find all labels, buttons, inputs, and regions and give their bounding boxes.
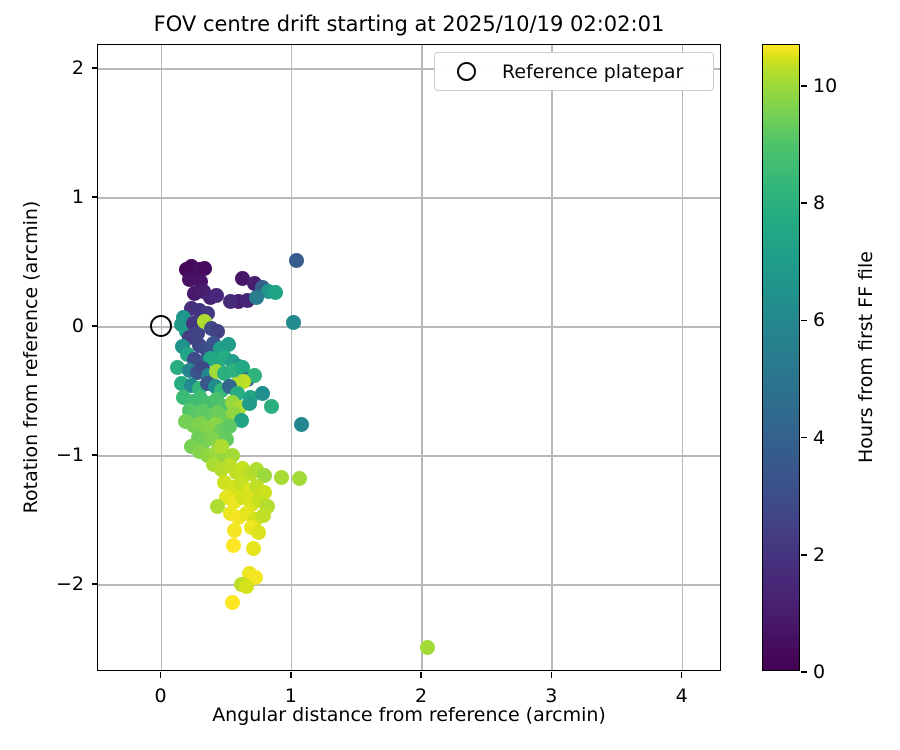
scatter-point (268, 285, 283, 300)
scatter-point (251, 525, 266, 540)
x-axis-tick (160, 672, 162, 678)
legend[interactable]: Reference platepar (434, 52, 714, 91)
y-axis-tick-label: −2 (56, 573, 84, 595)
colorbar-tick-label: 2 (813, 544, 825, 566)
colorbar-tick (801, 554, 807, 556)
scatter-point (225, 595, 240, 610)
y-axis-tick (92, 325, 98, 327)
gridline-vertical (421, 45, 423, 670)
scatter-point (214, 439, 229, 454)
y-axis-tick (92, 583, 98, 585)
y-axis-label: Rotation from reference (arcmin) (20, 201, 42, 514)
scatter-point (292, 471, 307, 486)
figure-root: FOV centre drift starting at 2025/10/19 … (0, 0, 900, 750)
y-axis-tick (92, 454, 98, 456)
y-axis-tick-label: 1 (72, 186, 84, 208)
gridline-vertical (291, 45, 293, 670)
scatter-point (294, 417, 309, 432)
scatter-point (242, 396, 257, 411)
colorbar-label: Hours from first FF file (855, 251, 877, 463)
y-axis-tick (92, 196, 98, 198)
scatter-point (420, 640, 435, 655)
gridline-horizontal (98, 197, 720, 199)
scatter-point (226, 538, 241, 553)
reference-platepar-marker (150, 315, 172, 337)
colorbar-tick-label: 0 (813, 661, 825, 683)
x-axis-label: Angular distance from reference (arcmin) (97, 704, 721, 726)
scatter-point (264, 399, 279, 414)
scatter-point (256, 508, 271, 523)
colorbar-tick (801, 320, 807, 322)
x-axis-tick (420, 672, 422, 678)
gridline-horizontal (98, 584, 720, 586)
x-axis-tick (290, 672, 292, 678)
legend-item-label: Reference platepar (502, 61, 683, 83)
y-axis-tick (92, 67, 98, 69)
gridline-vertical (551, 45, 553, 670)
scatter-point (274, 470, 289, 485)
colorbar-tick-label: 10 (813, 75, 837, 97)
scatter-point (227, 523, 242, 538)
x-axis-tick (551, 672, 553, 678)
y-axis-tick-label: 2 (72, 57, 84, 79)
gridline-horizontal (98, 455, 720, 457)
chart-title: FOV centre drift starting at 2025/10/19 … (0, 12, 818, 36)
scatter-point (246, 541, 261, 556)
scatter-point (249, 290, 264, 305)
y-axis-tick-label: 0 (72, 315, 84, 337)
scatter-point (209, 288, 224, 303)
scatter-point (239, 579, 254, 594)
colorbar-tick (801, 671, 807, 673)
scatter-point (286, 315, 301, 330)
colorbar-tick-label: 4 (813, 427, 825, 449)
colorbar: 0246810 (762, 44, 800, 671)
plot-area: 01234−2−1012 (97, 44, 721, 671)
scatter-point (289, 253, 304, 268)
gridline-vertical (161, 45, 163, 670)
x-axis-tick (681, 672, 683, 678)
colorbar-tick-label: 8 (813, 192, 825, 214)
scatter-point (255, 386, 270, 401)
y-axis-tick-label: −1 (56, 444, 84, 466)
gridline-vertical (682, 45, 684, 670)
colorbar-tick-label: 6 (813, 309, 825, 331)
colorbar-tick (801, 85, 807, 87)
colorbar-tick (801, 202, 807, 204)
colorbar-tick (801, 437, 807, 439)
reference-platepar-marker-icon (457, 62, 476, 81)
